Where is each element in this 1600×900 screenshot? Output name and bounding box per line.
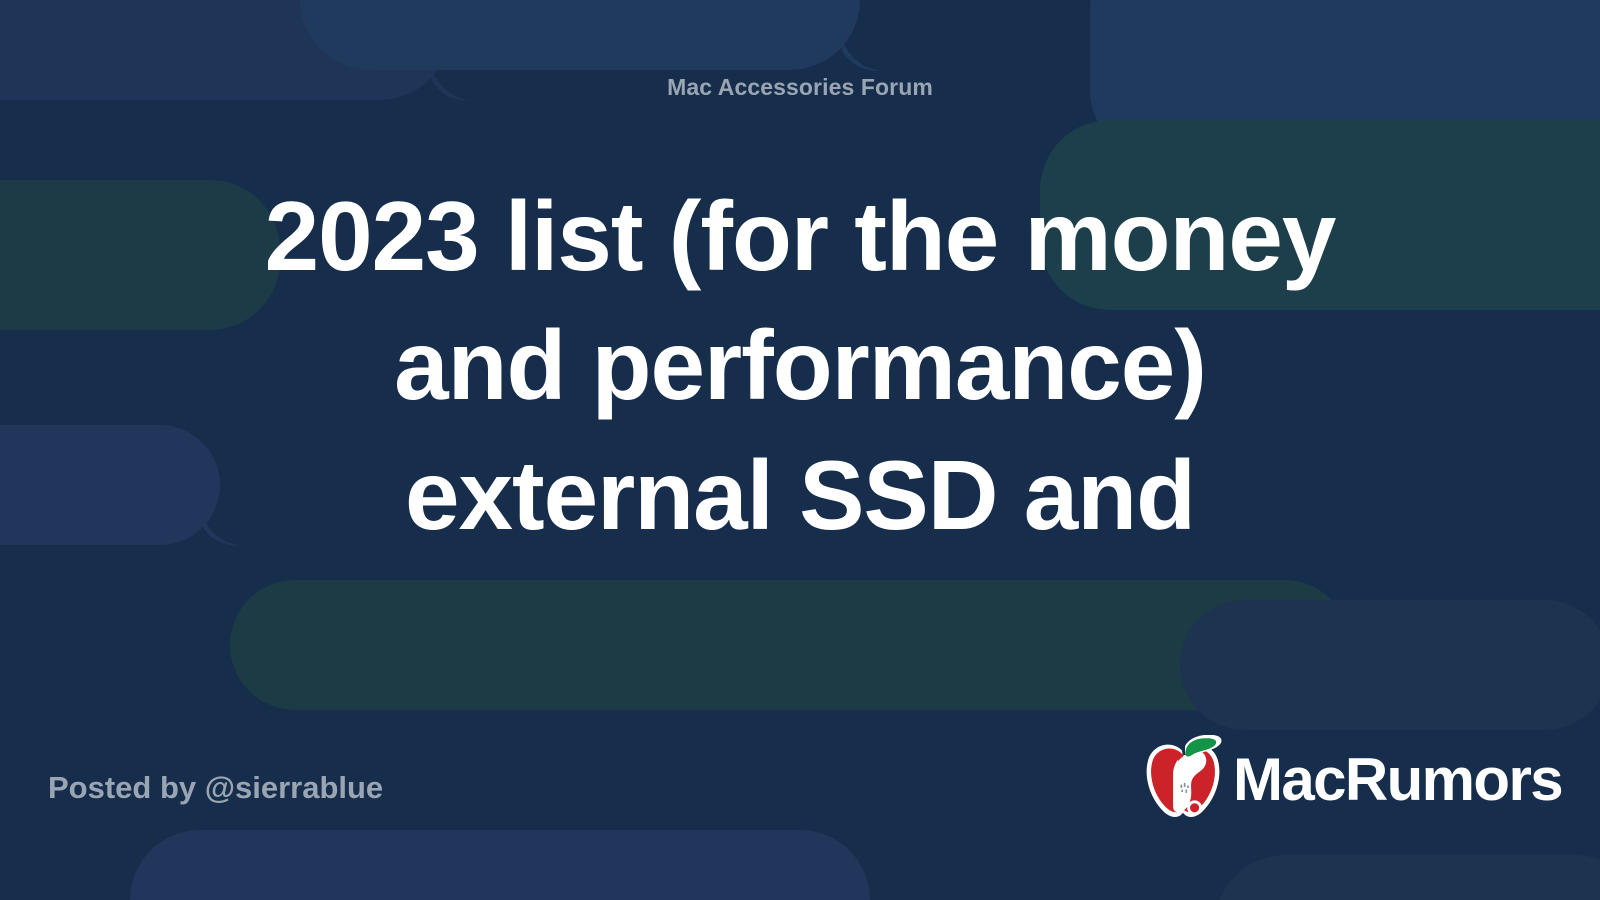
macrumors-apple-icon bbox=[1141, 735, 1225, 821]
macrumors-logo: MacRumors bbox=[1141, 735, 1562, 821]
forum-name: Mac Accessories Forum bbox=[0, 74, 1600, 101]
card-content: Mac Accessories Forum 2023 list (for the… bbox=[0, 0, 1600, 900]
social-share-card: Mac Accessories Forum 2023 list (for the… bbox=[0, 0, 1600, 900]
post-title: 2023 list (for the money and performance… bbox=[210, 172, 1390, 560]
macrumors-wordmark: MacRumors bbox=[1233, 750, 1562, 810]
posted-by-author: Posted by @sierrablue bbox=[48, 770, 383, 806]
